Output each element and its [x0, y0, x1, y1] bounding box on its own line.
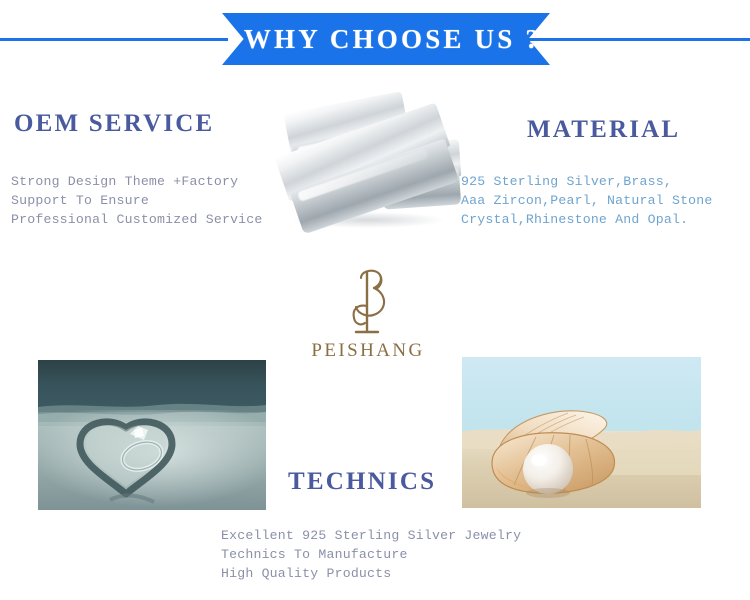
peishang-wordmark: PEISHANG	[304, 340, 432, 362]
oem-service-body: Strong Design Theme +Factory Support To …	[11, 172, 311, 229]
technics-body: Excellent 925 Sterling Silver Jewelry Te…	[221, 526, 581, 583]
peishang-logo: PEISHANG	[304, 262, 432, 374]
oem-service-heading: OEM SERVICE	[14, 110, 214, 138]
technics-heading: TECHNICS	[288, 468, 436, 496]
banner-section: WHY CHOOSE US ?	[0, 0, 750, 80]
banner-ribbon: WHY CHOOSE US ?	[222, 13, 550, 65]
banner-rule-left	[0, 38, 228, 41]
peishang-monogram-icon	[304, 262, 432, 342]
pearl-in-shell-image	[462, 357, 701, 508]
material-body: 925 Sterling Silver,Brass, Aaa Zircon,Pe…	[461, 172, 750, 229]
silver-ingot-bars-image	[283, 100, 461, 240]
material-heading: MATERIAL	[527, 116, 680, 144]
banner-rule-right	[524, 38, 750, 41]
why-choose-us-banner-page: WHY CHOOSE US ? OEM SERVICE Strong Desig…	[0, 0, 750, 600]
ring-in-sand-heart-image	[38, 360, 266, 510]
banner-title: WHY CHOOSE US ?	[230, 24, 542, 55]
